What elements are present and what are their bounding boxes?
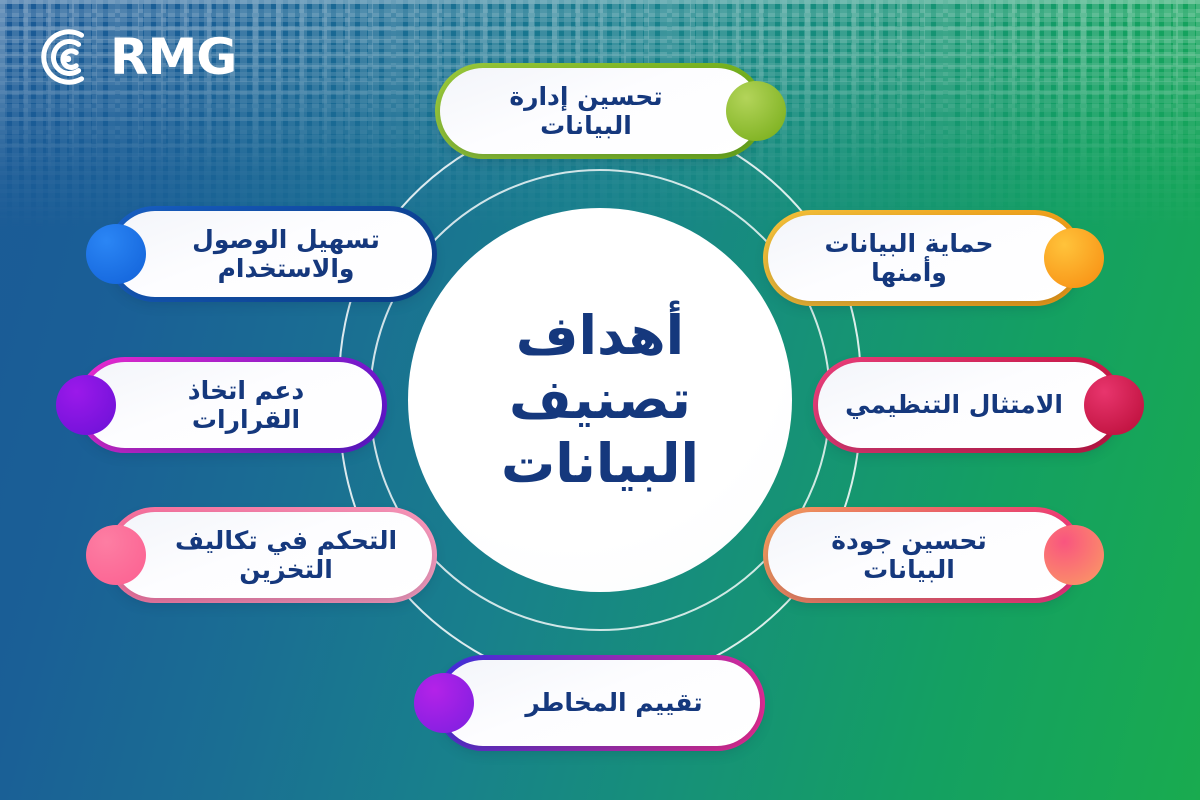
node-dot-icon <box>1044 525 1104 585</box>
node-dot-icon <box>1084 375 1144 435</box>
node-label: دعم اتخاذ القرارات <box>88 376 376 435</box>
node-label: الامتثال التنظيمي <box>824 390 1112 420</box>
node-dot-icon <box>726 81 786 141</box>
node-improve-data-management[interactable]: تحسين إدارة البيانات <box>440 68 760 154</box>
node-control-storage-costs[interactable]: التحكم في تكاليف التخزين <box>112 512 432 598</box>
logo-center-dot <box>65 56 72 63</box>
node-label: تقييم المخاطر <box>446 688 754 718</box>
node-dot-icon <box>1044 228 1104 288</box>
node-support-decision-making[interactable]: دعم اتخاذ القرارات <box>82 362 382 448</box>
node-dot-icon <box>414 673 474 733</box>
node-regulatory-compliance[interactable]: الامتثال التنظيمي <box>818 362 1118 448</box>
spiral-target-icon <box>36 26 98 88</box>
infographic-canvas: RMG أهداف تصنيف البيانات تحسين إدارة الب… <box>0 0 1200 800</box>
node-dot-icon <box>86 224 146 284</box>
node-label: تسهيل الوصول والاستخدام <box>118 225 426 284</box>
node-improve-data-quality[interactable]: تحسين جودة البيانات <box>768 512 1078 598</box>
node-dot-icon <box>86 525 146 585</box>
node-dot-icon <box>56 375 116 435</box>
node-ease-access-and-use[interactable]: تسهيل الوصول والاستخدام <box>112 211 432 297</box>
hub-circle: أهداف تصنيف البيانات <box>408 208 792 592</box>
node-data-protection-and-security[interactable]: حماية البيانات وأمنها <box>768 215 1078 301</box>
node-label: التحكم في تكاليف التخزين <box>118 526 426 585</box>
node-risk-assessment[interactable]: تقييم المخاطر <box>440 660 760 746</box>
brand-name: RMG <box>110 32 236 82</box>
brand-logo[interactable]: RMG <box>36 26 236 88</box>
node-label: تحسين جودة البيانات <box>774 526 1072 585</box>
node-label: تحسين إدارة البيانات <box>446 82 754 141</box>
hub-title: أهداف تصنيف البيانات <box>501 304 699 495</box>
node-label: حماية البيانات وأمنها <box>774 229 1072 288</box>
